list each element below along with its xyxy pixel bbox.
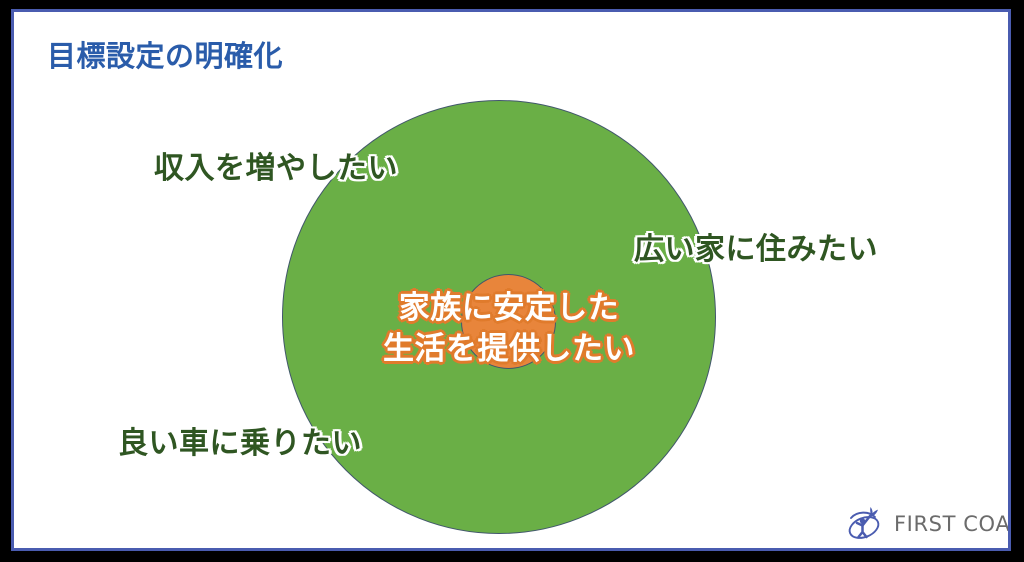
brand-logo: FIRST COACH: [845, 504, 1008, 544]
page-title: 目標設定の明確化: [47, 39, 283, 74]
slide-canvas: 目標設定の明確化 収入を増やしたい 広い家に住みたい 良い車に乗りたい 家族に安…: [14, 12, 1008, 548]
core-statement-line-2: 生活を提供したい: [354, 329, 664, 370]
core-statement-line-1: 家族に安定した: [354, 288, 664, 329]
core-statement: 家族に安定した 生活を提供したい: [354, 288, 664, 370]
slide-letterbox: 目標設定の明確化 収入を増やしたい 広い家に住みたい 良い車に乗りたい 家族に安…: [0, 0, 1024, 562]
first-coach-figure-icon: [845, 504, 885, 544]
goal-label-house: 広い家に住みたい: [634, 233, 878, 266]
brand-name: FIRST COACH: [894, 512, 1008, 536]
goal-label-car: 良い車に乗りたい: [118, 427, 362, 460]
slide-border: 目標設定の明確化 収入を増やしたい 広い家に住みたい 良い車に乗りたい 家族に安…: [11, 9, 1011, 551]
goal-label-income: 収入を増やしたい: [154, 152, 398, 185]
